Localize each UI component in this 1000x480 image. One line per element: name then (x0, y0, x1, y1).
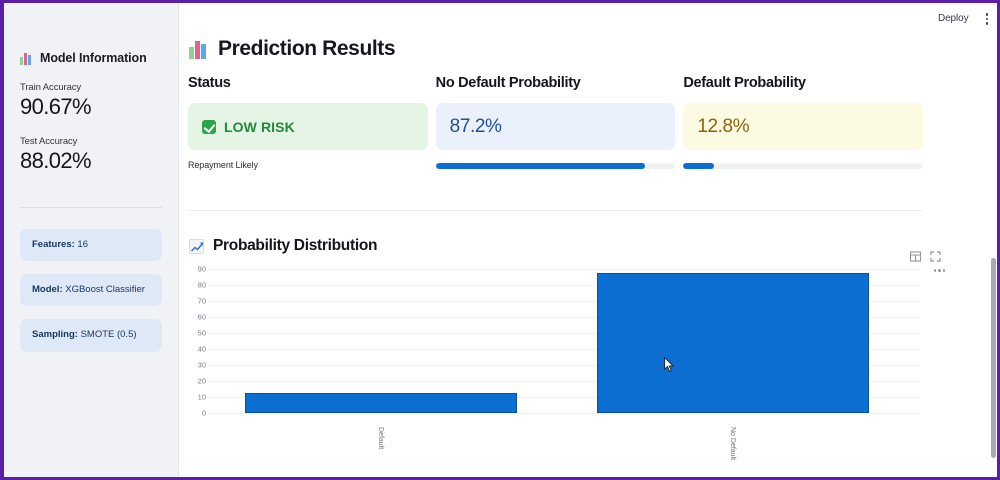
section-divider (188, 210, 923, 211)
sidebar: Model Information Train Accuracy 90.67% … (4, 3, 179, 477)
card-no-default-heading: No Default Probability (436, 75, 676, 91)
card-no-default-body: 87.2% (436, 103, 676, 150)
card-default-heading: Default Probability (683, 75, 923, 91)
chart-y-axis-tick: 90 (188, 265, 206, 274)
card-no-default-probability: No Default Probability 87.2% (436, 75, 676, 170)
badge-model: Model: XGBoost Classifier (20, 274, 162, 306)
chart-y-axis-tick: 0 (188, 409, 206, 418)
card-status-body: LOW RISK (188, 103, 428, 150)
window-border-top (0, 0, 1000, 3)
page-title: Prediction Results (189, 37, 395, 61)
chart-y-axis-tick: 50 (188, 329, 206, 338)
fullscreen-expand-icon[interactable] (929, 250, 942, 263)
chart-y-axis-tick: 80 (188, 281, 206, 290)
status-badge: LOW RISK (202, 119, 295, 135)
no-default-progress-fill (436, 163, 645, 169)
deploy-button[interactable]: Deploy (935, 11, 972, 26)
sidebar-divider (20, 207, 162, 208)
status-badge-label: LOW RISK (224, 119, 295, 135)
app-toolbar: Deploy (935, 10, 992, 28)
metric-train-accuracy-label: Train Accuracy (20, 82, 162, 93)
chart-y-axis-tick: 40 (188, 345, 206, 354)
chart-x-axis-tick: No Default (729, 427, 736, 460)
metric-train-accuracy-value: 90.67% (20, 94, 162, 119)
metric-test-accuracy: Test Accuracy 88.02% (20, 136, 162, 173)
bar-chart-icon (20, 52, 33, 65)
chart-y-axis-tick: 30 (188, 361, 206, 370)
app-window: Model Information Train Accuracy 90.67% … (0, 0, 1000, 480)
badge-features: Features: 16 (20, 229, 162, 261)
chart-bar[interactable] (597, 273, 869, 413)
check-box-icon (202, 120, 216, 134)
card-default-probability: Default Probability 12.8% (683, 75, 923, 170)
card-status: Status LOW RISK Repayment Likely (188, 75, 428, 170)
default-progress-fill (683, 163, 714, 169)
card-status-heading: Status (188, 75, 428, 91)
probability-distribution-chart[interactable]: 0102030405060708090DefaultNo Default (188, 261, 923, 473)
chart-y-axis-tick: 70 (188, 297, 206, 306)
bar-chart-icon (189, 40, 208, 59)
chart-y-axis-tick: 60 (188, 313, 206, 322)
metric-test-accuracy-value: 88.02% (20, 148, 162, 173)
card-default-value: 12.8% (697, 116, 749, 138)
card-status-caption: Repayment Likely (188, 160, 428, 170)
sidebar-badge-list: Features: 16 Model: XGBoost Classifier S… (20, 229, 162, 352)
badge-model-value: XGBoost Classifier (65, 284, 145, 295)
vertical-scrollbar-thumb[interactable] (991, 258, 996, 458)
sidebar-title: Model Information (20, 51, 162, 65)
metric-train-accuracy: Train Accuracy 90.67% (20, 82, 162, 119)
badge-model-label: Model: (32, 284, 63, 295)
window-border-left (0, 0, 4, 480)
view-as-table-icon[interactable] (909, 250, 922, 263)
badge-features-label: Features: (32, 239, 75, 250)
chart-section-title-label: Probability Distribution (213, 237, 377, 255)
chart-gridline (210, 413, 918, 414)
chart-x-axis-tick: Default (377, 427, 384, 449)
main-content: Deploy Prediction Results Status LOW RIS… (180, 3, 997, 477)
chart-increasing-icon (189, 239, 204, 254)
chart-toolbar (904, 247, 947, 266)
card-default-body: 12.8% (683, 103, 923, 150)
chart-gridline (210, 269, 918, 270)
default-progress-track (683, 163, 923, 169)
badge-sampling-label: Sampling: (32, 329, 78, 340)
no-default-progress-track (436, 163, 676, 169)
badge-sampling: Sampling: SMOTE (0.5) (20, 319, 162, 351)
chart-y-axis-tick: 10 (188, 393, 206, 402)
badge-features-value: 16 (77, 239, 88, 250)
badge-sampling-value: SMOTE (0.5) (81, 329, 137, 340)
chart-section-title: Probability Distribution (189, 237, 377, 255)
card-no-default-value: 87.2% (450, 116, 502, 138)
sidebar-title-label: Model Information (40, 51, 147, 65)
chart-bar[interactable] (245, 393, 517, 413)
chart-options-kebab-icon[interactable] (934, 269, 946, 272)
page-title-label: Prediction Results (218, 37, 395, 61)
metric-card-row: Status LOW RISK Repayment Likely No Defa… (188, 75, 923, 170)
chart-y-axis-tick: 20 (188, 377, 206, 386)
kebab-menu-icon[interactable] (982, 10, 993, 28)
metric-test-accuracy-label: Test Accuracy (20, 136, 162, 147)
